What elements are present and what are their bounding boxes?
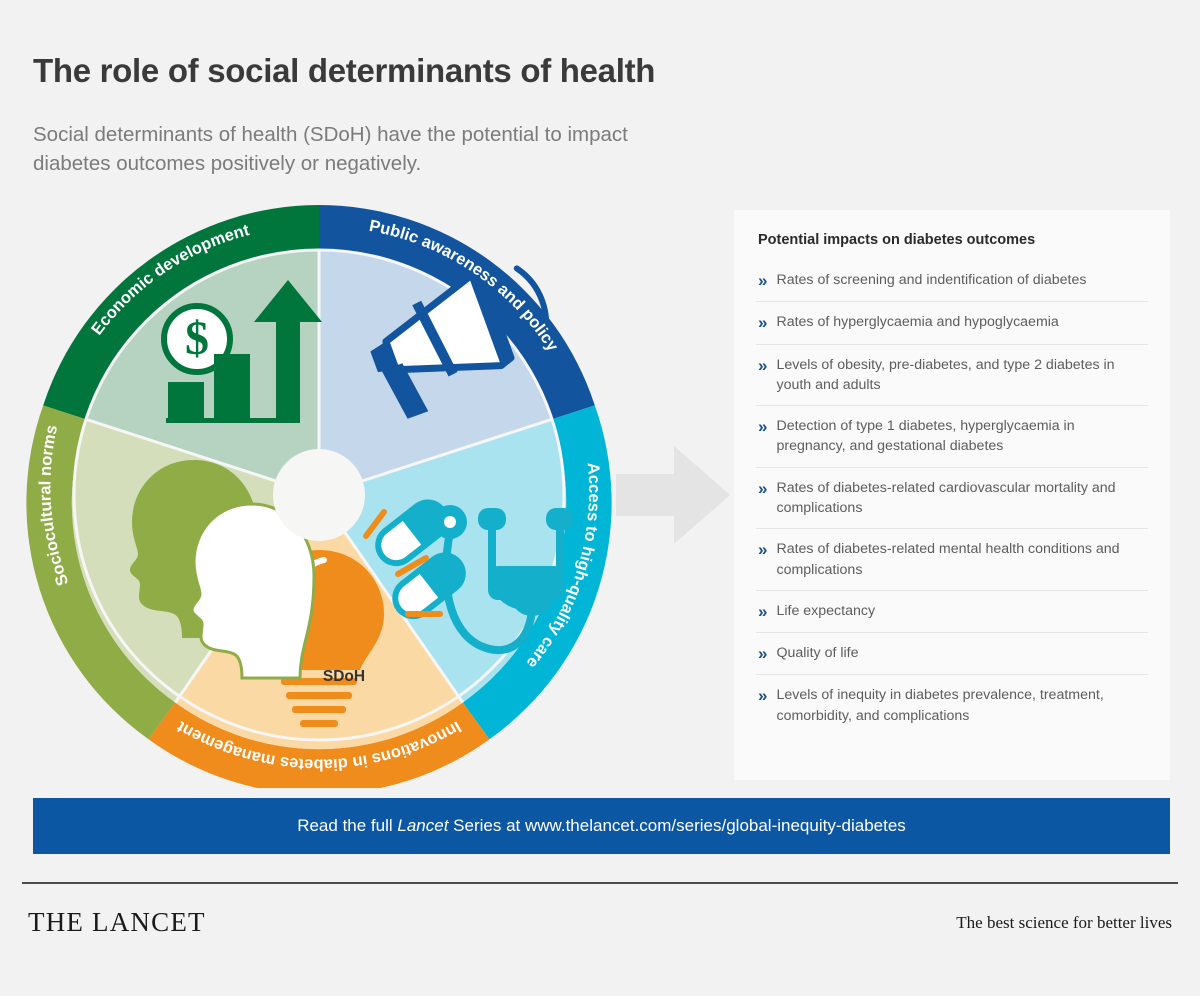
panel-title: Potential impacts on diabetes outcomes: [734, 210, 1170, 248]
list-item[interactable]: » Rates of diabetes-related mental healt…: [756, 529, 1148, 591]
double-chevron-icon: »: [758, 478, 765, 499]
impacts-list: » Rates of screening and indentification…: [756, 260, 1148, 736]
double-chevron-icon: »: [758, 416, 765, 437]
list-item[interactable]: » Quality of life: [756, 633, 1148, 675]
double-chevron-icon: »: [758, 685, 765, 706]
double-chevron-icon: »: [758, 270, 765, 291]
wheel-hub: [273, 449, 365, 541]
banner-text: Read the full Lancet Series at www.thela…: [297, 816, 906, 836]
infographic-page: The role of social determinants of healt…: [0, 0, 1200, 996]
lancet-logo: THE LANCET: [28, 907, 206, 938]
list-item-label: Rates of screening and indentification o…: [776, 270, 1086, 290]
footer-divider: [22, 882, 1178, 884]
list-item[interactable]: » Levels of inequity in diabetes prevale…: [756, 675, 1148, 736]
right-arrow-icon: [612, 440, 732, 550]
list-item[interactable]: » Rates of screening and indentification…: [756, 260, 1148, 302]
list-item[interactable]: » Rates of diabetes-related cardiovascul…: [756, 468, 1148, 530]
banner-suffix: Series at www.thelancet.com/series/globa…: [448, 816, 905, 835]
banner-italic-word: Lancet: [397, 816, 448, 835]
list-item-label: Rates of diabetes-related cardiovascular…: [776, 478, 1144, 519]
list-item-label: Quality of life: [776, 643, 858, 663]
list-item[interactable]: » Detection of type 1 diabetes, hypergly…: [756, 406, 1148, 468]
banner-prefix: Read the full: [297, 816, 397, 835]
series-link-banner[interactable]: Read the full Lancet Series at www.thela…: [33, 798, 1170, 854]
footer-tagline: The best science for better lives: [956, 913, 1172, 933]
wheel-svg: $: [26, 202, 612, 788]
list-item-label: Levels of obesity, pre-diabetes, and typ…: [776, 355, 1144, 396]
list-item[interactable]: » Rates of hyperglycaemia and hypoglycae…: [756, 302, 1148, 344]
impacts-panel: Potential impacts on diabetes outcomes »…: [734, 210, 1170, 780]
list-item[interactable]: » Life expectancy: [756, 591, 1148, 633]
sdoh-wheel-diagram: $: [26, 202, 612, 788]
svg-text:$: $: [185, 312, 209, 365]
page-title: The role of social determinants of healt…: [33, 52, 655, 90]
list-item[interactable]: » Levels of obesity, pre-diabetes, and t…: [756, 345, 1148, 407]
double-chevron-icon: »: [758, 643, 765, 664]
list-item-label: Rates of diabetes-related mental health …: [776, 539, 1144, 580]
double-chevron-icon: »: [758, 539, 765, 560]
page-subtitle: Social determinants of health (SDoH) hav…: [33, 120, 673, 178]
list-item-label: Levels of inequity in diabetes prevalenc…: [776, 685, 1144, 726]
double-chevron-icon: »: [758, 355, 765, 376]
list-item-label: Rates of hyperglycaemia and hypoglycaemi…: [776, 312, 1058, 332]
list-item-label: Detection of type 1 diabetes, hyperglyca…: [776, 416, 1144, 457]
list-item-label: Life expectancy: [776, 601, 875, 621]
double-chevron-icon: »: [758, 601, 765, 622]
double-chevron-icon: »: [758, 312, 765, 333]
